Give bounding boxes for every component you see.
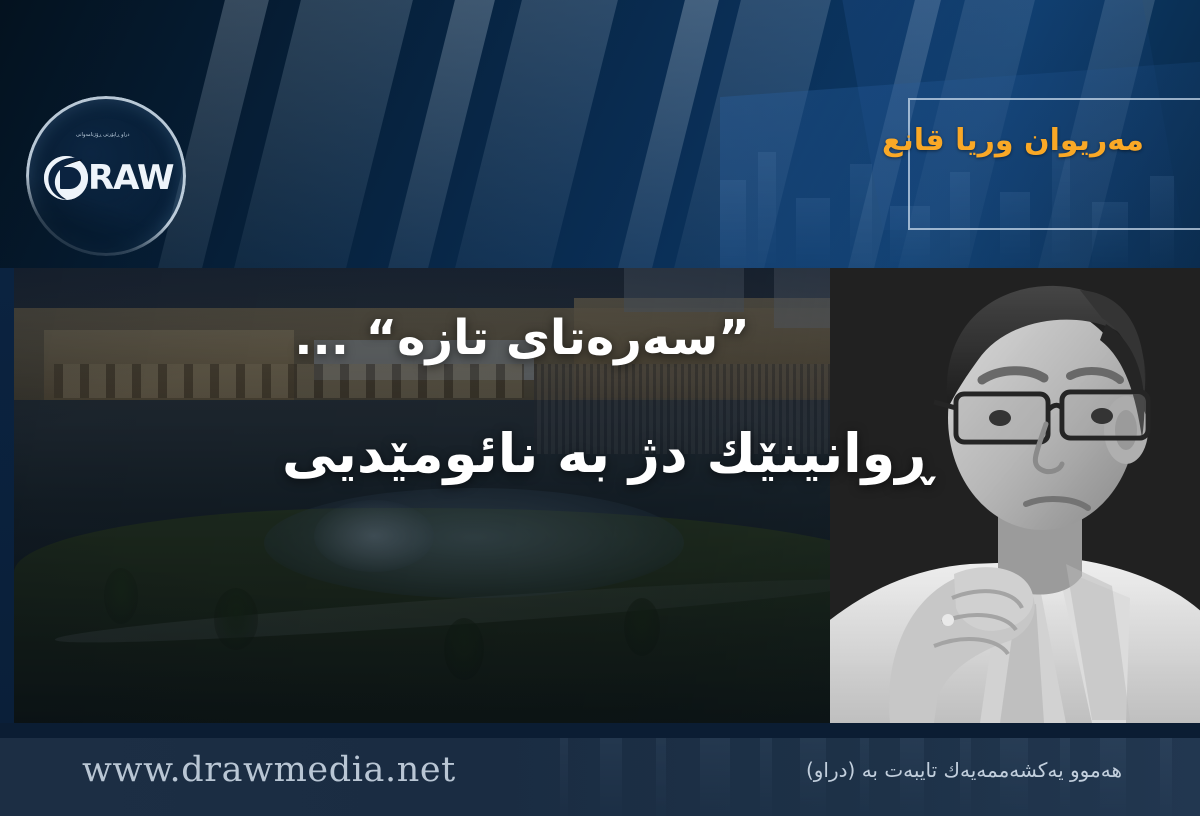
author-name: مەریوان وریا قانع <box>882 123 1144 158</box>
logo-wordmark: RAW <box>88 161 173 195</box>
panel-left-edge <box>0 268 14 723</box>
website-url[interactable]: www.drawmedia.net <box>82 750 456 790</box>
author-portrait <box>830 268 1200 723</box>
accent-band <box>0 722 1200 738</box>
author-name-frame <box>908 98 1200 230</box>
article-image-panel: ”سەرەتای تازە“ ... ڕوانینێك دژ به‌ نائوم… <box>14 268 1200 723</box>
header-band: مەریوان وریا قانع RAW دراو ڕاپۆرتی ڕ <box>0 0 1200 272</box>
footer-note: هەموو یەکشەممەیەك تایبەت به‌ (دراو) <box>806 758 1122 782</box>
logo-subtitle: دراو ڕاپۆرتی ڕۆژنامەوانی <box>76 132 130 138</box>
brand-logo[interactable]: RAW دراو ڕاپۆرتی ڕۆژنامەوانی <box>26 96 186 256</box>
article-card: مەریوان وریا قانع RAW دراو ڕاپۆرتی ڕ <box>0 0 1200 816</box>
logo-d-icon <box>42 154 90 202</box>
